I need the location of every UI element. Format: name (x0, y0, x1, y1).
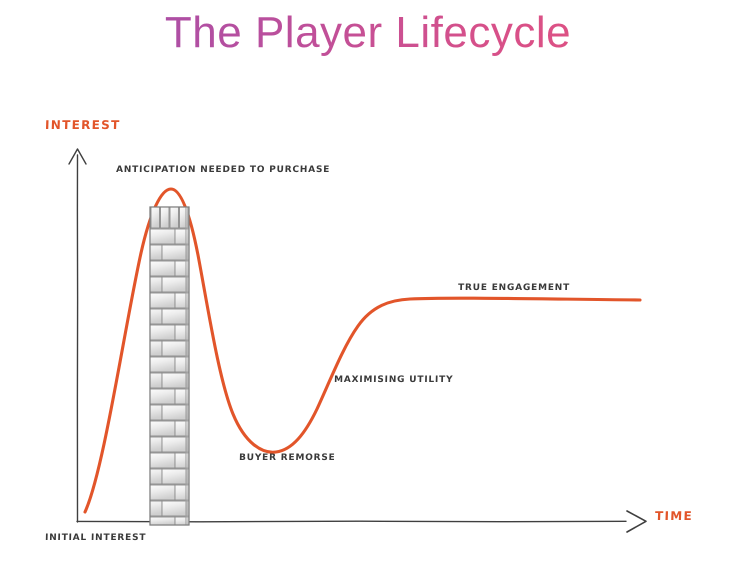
y-axis-label: INTEREST (45, 118, 121, 132)
x-axis-label: TIME (655, 509, 693, 523)
lifecycle-chart (0, 0, 736, 576)
annotation-true-engagement: TRUE ENGAGEMENT (458, 283, 570, 293)
annotation-buyer-remorse: BUYER REMORSE (239, 453, 336, 463)
slide-canvas: The Player Lifecycle (0, 0, 736, 576)
x-axis-arrowhead (627, 511, 646, 532)
annotation-initial-interest: INITIAL INTEREST (45, 533, 146, 543)
brick-wall-barrier (137, 207, 212, 525)
annotation-maximising-utility: MAXIMISING UTILITY (334, 375, 454, 385)
annotation-anticipation: ANTICIPATION NEEDED TO PURCHASE (116, 165, 330, 175)
brick-wall-shadow-edge (185, 207, 189, 525)
